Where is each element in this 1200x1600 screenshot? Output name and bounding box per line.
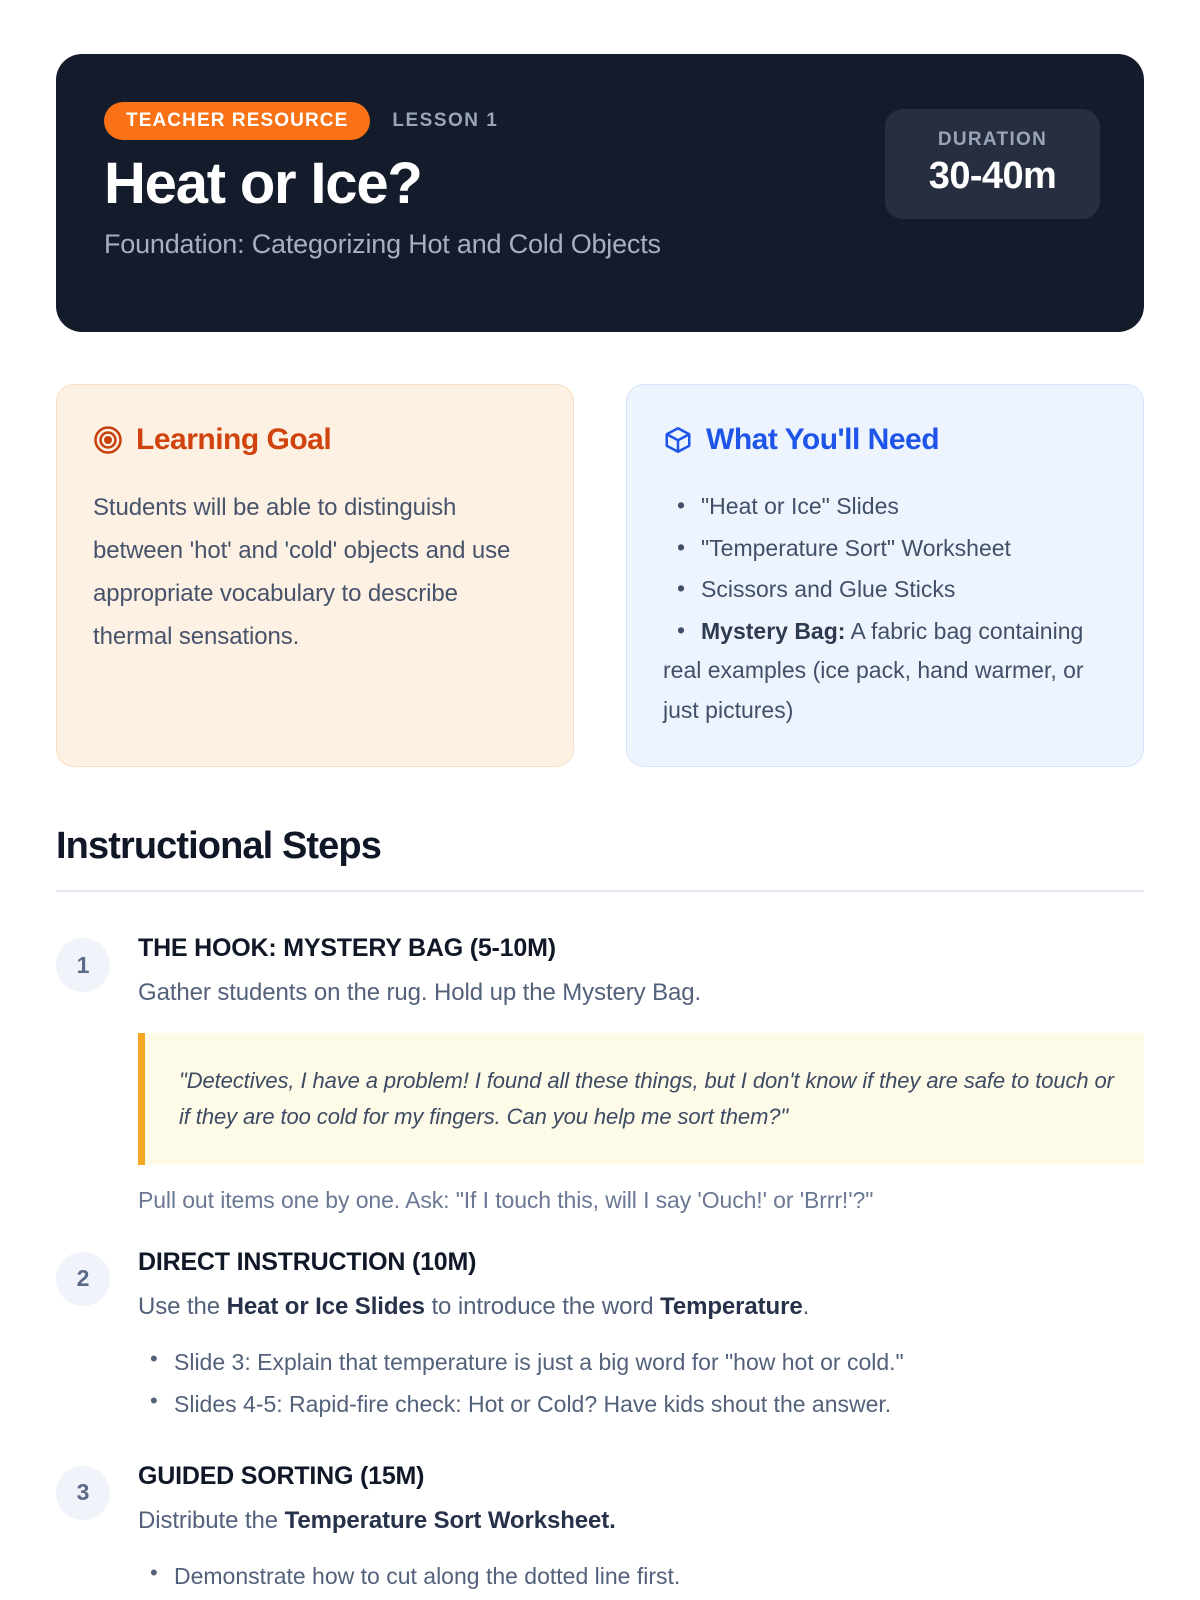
intro-part-bold: Temperature xyxy=(660,1293,803,1320)
section-divider xyxy=(56,890,1144,892)
info-cards-row: Learning Goal Students will be able to d… xyxy=(56,384,1144,767)
target-icon xyxy=(93,425,123,455)
materials-list: "Heat or Ice" Slides "Temperature Sort" … xyxy=(663,487,1107,730)
duration-value: 30-40m xyxy=(895,157,1090,197)
list-item: Scissors and Glue Sticks xyxy=(663,570,1107,610)
step-number-badge: 2 xyxy=(56,1252,110,1306)
material-text-wrapper: Mystery Bag: A fabric bag containing rea… xyxy=(663,618,1084,723)
step-bullet-list: Slide 3: Explain that temperature is jus… xyxy=(138,1343,1144,1424)
duration-badge: DURATION 30-40m xyxy=(885,109,1100,219)
intro-part: Use the xyxy=(138,1293,227,1320)
lesson-number-label: LESSON 1 xyxy=(392,110,498,132)
step-intro-text: Gather students on the rug. Hold up the … xyxy=(138,975,1144,1011)
intro-part-bold: Temperature Sort Worksheet. xyxy=(285,1507,616,1534)
step-body: THE HOOK: MYSTERY BAG (5-10M) Gather stu… xyxy=(138,934,1144,1213)
what-you-need-card: What You'll Need "Heat or Ice" Slides "T… xyxy=(626,384,1144,767)
cube-icon xyxy=(663,425,693,455)
intro-part: . xyxy=(803,1293,810,1320)
step-body: GUIDED SORTING (15M) Distribute the Temp… xyxy=(138,1462,1144,1600)
duration-label: DURATION xyxy=(895,129,1090,151)
teacher-resource-badge: TEACHER RESOURCE xyxy=(104,102,370,140)
list-item: "Heat or Ice" Slides xyxy=(663,487,1107,527)
step-intro-text: Use the Heat or Ice Slides to introduce … xyxy=(138,1289,1144,1325)
what-you-need-header: What You'll Need xyxy=(663,423,1107,457)
list-item: Slide 3: Explain that temperature is jus… xyxy=(138,1343,1144,1382)
intro-part-bold: Heat or Ice Slides xyxy=(227,1293,425,1320)
step-title: THE HOOK: MYSTERY BAG (5-10M) xyxy=(138,934,1144,963)
instructional-steps-heading: Instructional Steps xyxy=(56,825,1144,868)
learning-goal-card: Learning Goal Students will be able to d… xyxy=(56,384,574,767)
list-item: Mystery Bag: A fabric bag containing rea… xyxy=(663,612,1107,731)
page-subtitle: Foundation: Categorizing Hot and Cold Ob… xyxy=(104,229,1100,260)
material-text: Scissors and Glue Sticks xyxy=(701,576,955,602)
list-item: Slides 4-5: Rapid-fire check: Hot or Col… xyxy=(138,1385,1144,1424)
list-item: Demonstrate how to cut along the dotted … xyxy=(138,1557,1144,1596)
step-title: GUIDED SORTING (15M) xyxy=(138,1462,1144,1491)
material-text: "Temperature Sort" Worksheet xyxy=(701,535,1011,561)
step-number-badge: 1 xyxy=(56,938,110,992)
learning-goal-title: Learning Goal xyxy=(136,423,331,457)
intro-part: to introduce the word xyxy=(425,1293,660,1320)
what-you-need-title: What You'll Need xyxy=(706,423,939,457)
step-number-badge: 3 xyxy=(56,1466,110,1520)
step-followup-text: Pull out items one by one. Ask: "If I to… xyxy=(138,1187,1144,1214)
step-intro-text: Distribute the Temperature Sort Workshee… xyxy=(138,1503,1144,1539)
material-text: "Heat or Ice" Slides xyxy=(701,493,899,519)
step-item-2: 2 DIRECT INSTRUCTION (10M) Use the Heat … xyxy=(56,1248,1144,1428)
lesson-plan-page: TEACHER RESOURCE LESSON 1 Heat or Ice? F… xyxy=(0,0,1200,1600)
teacher-script-quote: "Detectives, I have a problem! I found a… xyxy=(138,1033,1144,1164)
list-item: "Temperature Sort" Worksheet xyxy=(663,529,1107,569)
material-bold-prefix: Mystery Bag: xyxy=(701,618,845,644)
learning-goal-body: Students will be able to distinguish bet… xyxy=(93,487,537,659)
step-item-3: 3 GUIDED SORTING (15M) Distribute the Te… xyxy=(56,1462,1144,1600)
intro-part: Distribute the xyxy=(138,1507,285,1534)
step-body: DIRECT INSTRUCTION (10M) Use the Heat or… xyxy=(138,1248,1144,1428)
learning-goal-header: Learning Goal xyxy=(93,423,537,457)
lesson-hero-header: TEACHER RESOURCE LESSON 1 Heat or Ice? F… xyxy=(56,54,1144,332)
step-bullet-list: Demonstrate how to cut along the dotted … xyxy=(138,1557,1144,1596)
step-item-1: 1 THE HOOK: MYSTERY BAG (5-10M) Gather s… xyxy=(56,934,1144,1213)
step-title: DIRECT INSTRUCTION (10M) xyxy=(138,1248,1144,1277)
